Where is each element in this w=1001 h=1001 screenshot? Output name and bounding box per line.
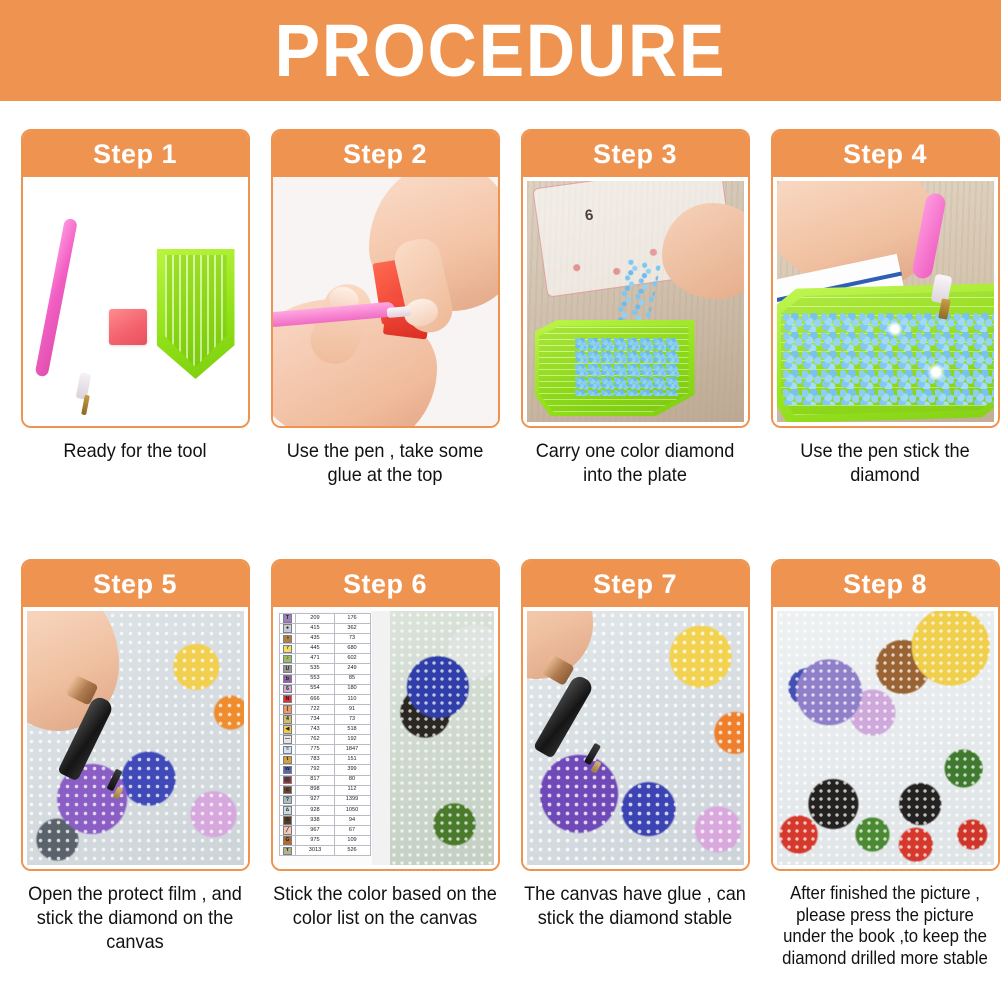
color-swatch: G <box>283 836 291 844</box>
color-chart-row: (72291 <box>279 704 370 714</box>
color-chart-table: T209176●415362◑43573?445680♪471602U53524… <box>279 613 371 856</box>
color-code-cell: 3013 <box>296 846 334 856</box>
step-4-caption: Use the pen stick the diamond <box>772 440 997 488</box>
wax-square-icon <box>109 309 147 345</box>
color-symbol-cell: — <box>279 735 296 745</box>
step-2-header: Step 2 <box>273 131 498 177</box>
color-code-cell: 967 <box>296 825 334 835</box>
color-chart-row: U535249 <box>279 664 370 674</box>
step-2-body <box>273 177 498 426</box>
color-count-cell: 109 <box>334 836 370 846</box>
color-symbol-cell: ? <box>279 795 296 805</box>
color-chart-row: ◑43573 <box>279 634 370 644</box>
color-symbol-cell: ● <box>279 624 296 634</box>
color-swatch: ◀ <box>283 725 291 733</box>
color-swatch: U <box>283 665 291 673</box>
step-4-header-label: Step 4 <box>843 139 927 170</box>
step-card-3: Step 3 6 <box>514 129 756 559</box>
step-2-card: Step 2 <box>271 129 500 428</box>
step-5-photo <box>27 611 244 865</box>
step-4-body <box>773 177 998 426</box>
step-5-header: Step 5 <box>23 561 248 607</box>
sparkle-icon <box>927 363 945 381</box>
step-card-8: Step 8 After finished the picture , plea… <box>764 559 1001 1001</box>
step-8-header-label: Step 8 <box>843 569 927 600</box>
step-1-caption: Ready for the tool <box>22 440 247 464</box>
color-symbol-cell: Y <box>279 846 296 856</box>
color-chart-and-canvas: T209176●415362◑43573?445680♪471602U53524… <box>277 611 494 865</box>
color-chart-row: 593894 <box>279 815 370 825</box>
color-symbol-cell: ∆ <box>279 805 296 815</box>
step-4-card: Step 4 <box>771 129 1000 428</box>
step-7-body <box>523 607 748 869</box>
color-swatch: ◑ <box>283 635 291 643</box>
color-chart-row: 473473 <box>279 714 370 724</box>
color-symbol-cell: 4 <box>279 714 296 724</box>
color-symbol-cell: ( <box>279 704 296 714</box>
color-chart-row: b55385 <box>279 674 370 684</box>
color-code-cell: 471 <box>296 654 334 664</box>
color-count-cell: 1847 <box>334 745 370 755</box>
pen-tip-icon <box>386 306 411 318</box>
color-count-cell: 73 <box>334 714 370 724</box>
color-symbol-cell: ≈ <box>279 745 296 755</box>
color-count-cell: 192 <box>334 735 370 745</box>
color-symbol-cell: c <box>279 785 296 795</box>
color-count-cell: 112 <box>334 785 370 795</box>
color-swatch: T <box>283 614 291 622</box>
steps-row-bottom: Step 5 Open the protect film , and <box>0 559 1001 1001</box>
color-chart-row: ∆9281050 <box>279 805 370 815</box>
step-6-caption: Stick the color based on the color list … <box>272 883 497 931</box>
color-code-cell: 927 <box>296 795 334 805</box>
page-title: PROCEDURE <box>275 14 727 88</box>
color-count-cell: 176 <box>334 614 370 624</box>
step-3-caption: Carry one color diamond into the plate <box>522 440 747 488</box>
color-swatch: 6 <box>283 685 291 693</box>
color-swatch: ● <box>283 624 291 632</box>
color-chart-row: ⬛81780 <box>279 775 370 785</box>
step-card-1: Step 1 Ready for th <box>14 129 256 559</box>
color-chart-row: W792399 <box>279 765 370 775</box>
color-chart-row: Y3013526 <box>279 846 370 856</box>
step-2-header-label: Step 2 <box>343 139 427 170</box>
color-swatch: ∆ <box>283 806 291 814</box>
color-code-cell: 938 <box>296 815 334 825</box>
color-symbol-cell: W <box>279 765 296 775</box>
step-5-header-label: Step 5 <box>93 569 177 600</box>
color-chart-row: N666110 <box>279 694 370 704</box>
color-list-panel: T209176●415362◑43573?445680♪471602U53524… <box>277 611 372 865</box>
step-8-photo <box>777 611 994 865</box>
step-card-7: Step 7 The canvas have glue , can <box>514 559 756 1001</box>
color-chart-row: ●415362 <box>279 624 370 634</box>
step-1-photo <box>27 181 244 422</box>
color-symbol-cell: U <box>279 664 296 674</box>
color-code-cell: 743 <box>296 725 334 735</box>
color-count-cell: 249 <box>334 664 370 674</box>
step-6-header-label: Step 6 <box>343 569 427 600</box>
color-code-cell: 792 <box>296 765 334 775</box>
color-swatch: 4 <box>283 715 291 723</box>
step-8-caption: After finished the picture , please pres… <box>772 883 997 969</box>
color-symbol-cell: ? <box>279 644 296 654</box>
color-symbol-cell: ♪ <box>279 654 296 664</box>
color-count-cell: 73 <box>334 634 370 644</box>
color-count-cell: 362 <box>334 624 370 634</box>
color-code-cell: 435 <box>296 634 334 644</box>
color-swatch: b <box>283 675 291 683</box>
step-5-body <box>23 607 248 869</box>
color-code-cell: 554 <box>296 684 334 694</box>
color-count-cell: 1050 <box>334 805 370 815</box>
step-7-header-label: Step 7 <box>593 569 677 600</box>
color-code-cell: 783 <box>296 755 334 765</box>
page-banner: PROCEDURE <box>0 0 1001 101</box>
step-4-header: Step 4 <box>773 131 998 177</box>
color-swatch: Y <box>283 847 291 855</box>
color-swatch: ♪ <box>283 655 291 663</box>
chart-canvas-divider <box>372 611 390 865</box>
step-8-body <box>773 607 998 869</box>
color-code-cell: 415 <box>296 624 334 634</box>
step-card-4: Step 4 <box>764 129 1001 559</box>
color-symbol-cell: t <box>279 755 296 765</box>
color-code-cell: 734 <box>296 714 334 724</box>
color-chart-body: T209176●415362◑43573?445680♪471602U53524… <box>279 614 370 856</box>
color-code-cell: 975 <box>296 836 334 846</box>
step-3-header: Step 3 <box>523 131 748 177</box>
sparkle-icon <box>887 321 903 337</box>
color-swatch: 5 <box>283 816 291 824</box>
step-1-header: Step 1 <box>23 131 248 177</box>
color-count-cell: 518 <box>334 725 370 735</box>
step-7-card: Step 7 <box>521 559 750 871</box>
mosaic-canvas-icon <box>390 611 494 865</box>
color-count-cell: 151 <box>334 755 370 765</box>
step-6-body: T209176●415362◑43573?445680♪471602U53524… <box>273 607 498 869</box>
steps-row-top: Step 1 Ready for th <box>0 129 1001 559</box>
color-count-cell: 85 <box>334 674 370 684</box>
step-8-header: Step 8 <box>773 561 998 607</box>
color-symbol-cell: ⬛ <box>279 775 296 785</box>
color-code-cell: 209 <box>296 614 334 624</box>
step-1-header-label: Step 1 <box>93 139 177 170</box>
color-chart-row: 6554180 <box>279 684 370 694</box>
color-swatch: ( <box>283 705 291 713</box>
step-5-caption: Open the protect film , and stick the di… <box>22 883 247 954</box>
step-card-2: Step 2 <box>264 129 506 559</box>
color-code-cell: 762 <box>296 735 334 745</box>
step-1-body <box>23 177 248 426</box>
color-count-cell: 80 <box>334 775 370 785</box>
color-count-cell: 180 <box>334 684 370 694</box>
color-chart-row: t783151 <box>279 755 370 765</box>
step-3-card: Step 3 6 <box>521 129 750 428</box>
color-count-cell: 1399 <box>334 795 370 805</box>
color-count-cell: 399 <box>334 765 370 775</box>
color-symbol-cell: G <box>279 836 296 846</box>
color-code-cell: 817 <box>296 775 334 785</box>
color-code-cell: 928 <box>296 805 334 815</box>
step-2-photo <box>273 177 498 426</box>
color-chart-row: ?9271399 <box>279 795 370 805</box>
color-symbol-cell: 5 <box>279 815 296 825</box>
bag-number-label: 6 <box>583 207 594 225</box>
step-6-photo: T209176●415362◑43573?445680♪471602U53524… <box>277 611 494 865</box>
color-code-cell: 898 <box>296 785 334 795</box>
color-symbol-cell: ◑ <box>279 634 296 644</box>
color-chart-row: ?445680 <box>279 644 370 654</box>
step-card-6: Step 6 T209176●415362◑43573?445680♪47160… <box>264 559 506 1001</box>
color-swatch: c <box>283 786 291 794</box>
step-6-header: Step 6 <box>273 561 498 607</box>
color-swatch: W <box>283 766 291 774</box>
color-chart-row: G975109 <box>279 836 370 846</box>
step-2-caption: Use the pen , take some glue at the top <box>272 440 497 488</box>
color-swatch: N <box>283 695 291 703</box>
color-count-cell: 680 <box>334 644 370 654</box>
color-code-cell: 553 <box>296 674 334 684</box>
step-8-card: Step 8 <box>771 559 1000 871</box>
color-chart-row: —762192 <box>279 735 370 745</box>
color-code-cell: 535 <box>296 664 334 674</box>
step-1-card: Step 1 <box>21 129 250 428</box>
mosaic-canvas-area <box>390 611 494 865</box>
color-symbol-cell: ◀ <box>279 725 296 735</box>
color-swatch: — <box>283 735 291 743</box>
color-symbol-cell: 6 <box>279 684 296 694</box>
color-code-cell: 775 <box>296 745 334 755</box>
color-count-cell: 602 <box>334 654 370 664</box>
step-7-caption: The canvas have glue , can stick the dia… <box>522 883 747 931</box>
color-swatch: ╱ <box>283 826 291 834</box>
procedure-infographic: PROCEDURE Step 1 <box>0 0 1001 1001</box>
color-chart-row: ╱96767 <box>279 825 370 835</box>
color-code-cell: 445 <box>296 644 334 654</box>
color-count-cell: 91 <box>334 704 370 714</box>
step-3-photo: 6 <box>527 181 744 422</box>
color-chart-row: ◀743518 <box>279 725 370 735</box>
color-swatch: ? <box>283 796 291 804</box>
color-count-cell: 110 <box>334 694 370 704</box>
color-swatch: ⬛ <box>283 776 291 784</box>
color-swatch: ≈ <box>283 746 291 754</box>
color-chart-row: ♪471602 <box>279 654 370 664</box>
step-4-photo <box>777 181 994 422</box>
finished-painting-icon <box>777 611 994 865</box>
blue-diamonds-icon <box>575 338 679 396</box>
color-symbol-cell: ╱ <box>279 825 296 835</box>
color-swatch: ? <box>283 645 291 653</box>
step-card-5: Step 5 Open the protect film , and <box>14 559 256 1001</box>
color-count-cell: 67 <box>334 825 370 835</box>
color-count-cell: 94 <box>334 815 370 825</box>
step-6-card: Step 6 T209176●415362◑43573?445680♪47160… <box>271 559 500 871</box>
step-3-header-label: Step 3 <box>593 139 677 170</box>
color-code-cell: 722 <box>296 704 334 714</box>
color-symbol-cell: T <box>279 614 296 624</box>
steps-grid: Step 1 Ready for th <box>0 101 1001 1001</box>
color-chart-row: T209176 <box>279 614 370 624</box>
step-3-body: 6 <box>523 177 748 426</box>
step-7-photo <box>527 611 744 865</box>
step-5-card: Step 5 <box>21 559 250 871</box>
color-code-cell: 666 <box>296 694 334 704</box>
color-chart-row: c898112 <box>279 785 370 795</box>
color-chart-row: ≈7751847 <box>279 745 370 755</box>
step-7-header: Step 7 <box>523 561 748 607</box>
color-symbol-cell: N <box>279 694 296 704</box>
color-swatch: t <box>283 756 291 764</box>
color-count-cell: 526 <box>334 846 370 856</box>
color-symbol-cell: b <box>279 674 296 684</box>
